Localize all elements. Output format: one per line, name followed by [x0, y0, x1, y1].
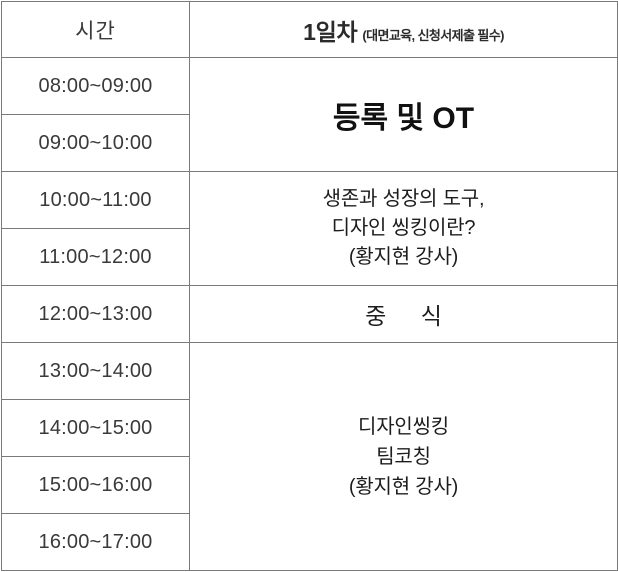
table-row: 12:00~13:00 중 식	[2, 286, 618, 343]
session-lunch[interactable]: 중 식	[190, 286, 618, 343]
time-slot-1200: 12:00~13:00	[2, 286, 190, 343]
session-line-2: 팀코칭	[190, 442, 617, 472]
session-design-thinking-lecture[interactable]: 생존과 성장의 도구, 디자인 씽킹이란? (황지현 강사)	[190, 172, 618, 286]
time-slot-1100: 11:00~12:00	[2, 229, 190, 286]
session-design-thinking-team-coaching[interactable]: 디자인씽킹 팀코칭 (황지현 강사)	[190, 343, 618, 571]
time-slot-0800: 08:00~09:00	[2, 58, 190, 115]
session-line-2: 디자인 씽킹이란?	[190, 214, 617, 243]
session-registration-ot[interactable]: 등록 및 OT	[190, 58, 618, 172]
schedule-table: 시간 1일차(대면교육, 신청서제출 필수) 08:00~09:00 등록 및 …	[1, 1, 618, 571]
session-text-block: 생존과 성장의 도구, 디자인 씽킹이란? (황지현 강사)	[190, 185, 617, 272]
day1-note: (대면교육, 신청서제출 필수)	[362, 28, 503, 43]
table-row: 13:00~14:00 디자인씽킹 팀코칭 (황지현 강사)	[2, 343, 618, 400]
day1-label: 1일차	[303, 19, 357, 45]
time-slot-1600: 16:00~17:00	[2, 514, 190, 571]
lunch-label: 중 식	[351, 303, 456, 329]
schedule-container: 시간 1일차(대면교육, 신청서제출 필수) 08:00~09:00 등록 및 …	[0, 1, 618, 572]
session-line-1: 생존과 성장의 도구,	[190, 185, 617, 214]
time-slot-1000: 10:00~11:00	[2, 172, 190, 229]
session-text-block: 디자인씽킹 팀코칭 (황지현 강사)	[190, 412, 617, 502]
time-slot-0900: 09:00~10:00	[2, 115, 190, 172]
time-slot-1400: 14:00~15:00	[2, 400, 190, 457]
table-header-row: 시간 1일차(대면교육, 신청서제출 필수)	[2, 2, 618, 58]
column-header-day1: 1일차(대면교육, 신청서제출 필수)	[190, 2, 618, 58]
column-header-time: 시간	[2, 2, 190, 58]
session-instructor: (황지현 강사)	[190, 472, 617, 502]
session-instructor: (황지현 강사)	[190, 243, 617, 272]
table-row: 10:00~11:00 생존과 성장의 도구, 디자인 씽킹이란? (황지현 강…	[2, 172, 618, 229]
time-slot-1300: 13:00~14:00	[2, 343, 190, 400]
time-slot-1500: 15:00~16:00	[2, 457, 190, 514]
table-row: 08:00~09:00 등록 및 OT	[2, 58, 618, 115]
session-line-1: 디자인씽킹	[190, 412, 617, 442]
